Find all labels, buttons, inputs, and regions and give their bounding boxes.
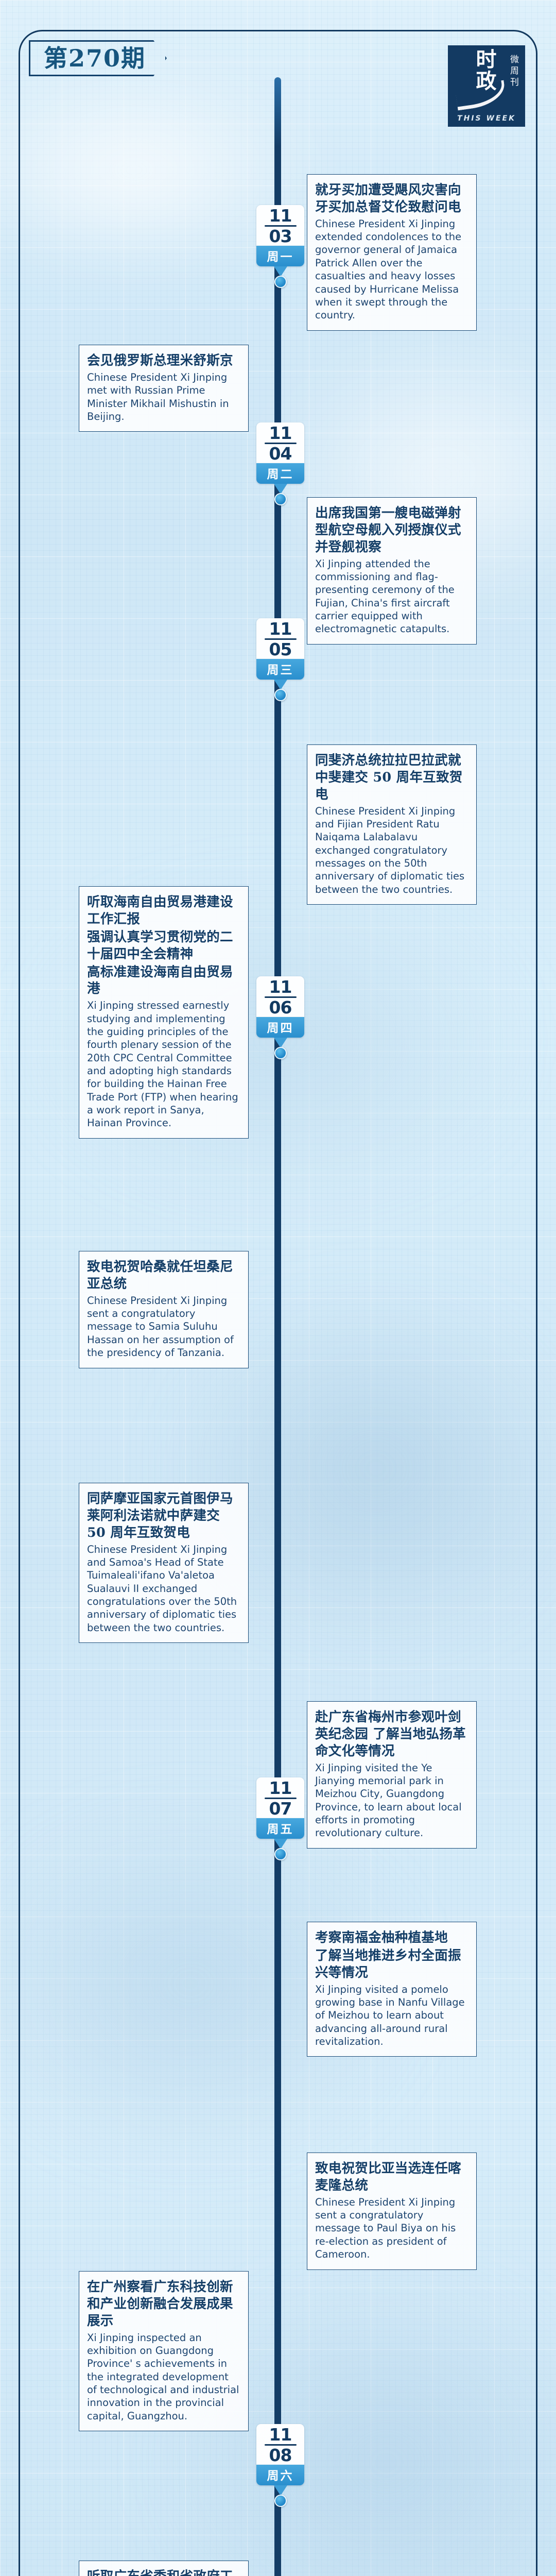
date-month: 11: [256, 2427, 304, 2443]
timeline-event-card[interactable]: 就牙买加遭受飓风灾害向牙买加总督艾伦致慰问电Chinese President …: [307, 174, 477, 331]
event-description-en: Xi Jinping attended the commissioning an…: [315, 557, 468, 636]
brand-char-1: 时: [476, 49, 497, 70]
marker-arrow-icon: [274, 1038, 287, 1048]
timeline-event-card[interactable]: 考察南福金柚种植基地了解当地推进乡村全面振兴等情况Xi Jinping visi…: [307, 1922, 477, 2057]
date-day: 05: [256, 641, 304, 658]
event-title-cn: 考察南福金柚种植基地: [315, 1929, 468, 1946]
marker-arrow-icon: [274, 1839, 287, 1849]
timeline-event-card[interactable]: 在广州察看广东科技创新和产业创新融合发展成果展示Xi Jinping inspe…: [79, 2271, 249, 2431]
timeline-node-dot: [274, 276, 287, 288]
event-description-en: Chinese President Xi Jinping sent a cong…: [315, 2196, 468, 2261]
event-title-cn: 出席我国第一艘电磁弹射型航空母舰入列授旗仪式并登舰视察: [315, 505, 468, 556]
date-month: 11: [256, 1781, 304, 1796]
date-month: 11: [256, 979, 304, 995]
timeline-event-card[interactable]: 听取广东省委和省政府工作汇报Xi Jinping listened to wor…: [79, 2561, 249, 2576]
date-weekday: 周一: [256, 246, 304, 266]
date-day: 04: [256, 445, 304, 462]
marker-arrow-icon: [274, 680, 287, 690]
date-day: 03: [256, 228, 304, 245]
event-title-cn: 会见俄罗斯总理米舒斯京: [87, 352, 240, 369]
date-month: 11: [256, 208, 304, 224]
timeline-event-card[interactable]: 会见俄罗斯总理米舒斯京Chinese President Xi Jinping …: [79, 345, 249, 432]
date-day: 08: [256, 2447, 304, 2464]
date-day: 06: [256, 999, 304, 1016]
timeline-node-dot: [274, 1848, 287, 1860]
event-description-en: Chinese President Xi Jinping met with Ru…: [87, 371, 240, 423]
date-month: 11: [256, 621, 304, 637]
timeline-event-card[interactable]: 致电祝贺哈桑就任坦桑尼亚总统Chinese President Xi Jinpi…: [79, 1251, 249, 1368]
event-title-cn: 高标准建设海南自由贸易港: [87, 964, 240, 998]
timeline-event-card[interactable]: 赴广东省梅州市参观叶剑英纪念园 了解当地弘扬革命文化等情况Xi Jinping …: [307, 1701, 477, 1849]
marker-arrow-icon: [274, 266, 287, 277]
date-weekday: 周三: [256, 659, 304, 680]
event-title-cn: 就牙买加遭受飓风灾害向牙买加总督艾伦致慰问电: [315, 182, 468, 216]
event-description-en: Chinese President Xi Jinping extended co…: [315, 217, 468, 322]
date-weekday: 周六: [256, 2465, 304, 2485]
event-description-en: Xi Jinping visited the Ye Jianying memor…: [315, 1761, 468, 1840]
timeline-node-dot: [274, 2495, 287, 2507]
brush-stroke-icon: [455, 80, 507, 111]
timeline-date-marker: 1107周五: [256, 1777, 304, 1860]
date-weekday: 周五: [256, 1818, 304, 1839]
date-weekday: 周二: [256, 463, 304, 484]
timeline-node-dot: [274, 1047, 287, 1059]
event-description-en: Chinese President Xi Jinping and Samoa's…: [87, 1543, 240, 1634]
event-description-en: Xi Jinping stressed earnestly studying a…: [87, 999, 240, 1129]
event-title-cn: 了解当地推进乡村全面振兴等情况: [315, 1947, 468, 1981]
event-title-cn: 听取海南自由贸易港建设工作汇报: [87, 894, 240, 928]
event-description-en: Chinese President Xi Jinping and Fijian …: [315, 805, 468, 896]
event-title-cn: 同萨摩亚国家元首图伊马莱阿利法诺就中萨建交 50 周年互致贺电: [87, 1490, 240, 1541]
event-title-cn: 致电祝贺比亚当选连任喀麦隆总统: [315, 2160, 468, 2194]
timeline-date-marker: 1105周三: [256, 618, 304, 701]
timeline-event-card[interactable]: 听取海南自由贸易港建设工作汇报强调认真学习贯彻党的二十届四中全会精神高标准建设海…: [79, 886, 249, 1139]
event-title-cn: 致电祝贺哈桑就任坦桑尼亚总统: [87, 1259, 240, 1293]
event-title-cn: 听取广东省委和省政府工作汇报: [87, 2568, 240, 2576]
date-weekday: 周四: [256, 1017, 304, 1038]
timeline-date-marker: 1104周二: [256, 422, 304, 505]
date-card: 1106: [256, 976, 304, 1017]
event-title-cn: 强调认真学习贯彻党的二十届四中全会精神: [87, 929, 240, 963]
event-description-en: Xi Jinping inspected an exhibition on Gu…: [87, 2331, 240, 2422]
timeline-date-marker: 1108周六: [256, 2424, 304, 2507]
event-description-en: Chinese President Xi Jinping sent a cong…: [87, 1294, 240, 1360]
date-card: 1103: [256, 205, 304, 246]
brand-subtitle-cn: 微周刊: [507, 55, 520, 89]
event-title-cn: 在广州察看广东科技创新和产业创新融合发展成果展示: [87, 2279, 240, 2330]
timeline-event-card[interactable]: 出席我国第一艘电磁弹射型航空母舰入列授旗仪式并登舰视察Xi Jinping at…: [307, 497, 477, 645]
poster-canvas: 第270期 时 政 微周刊 THIS WEEK 1103周一1104周二1105…: [0, 0, 556, 2576]
timeline-date-marker: 1106周四: [256, 976, 304, 1059]
brand-logo: 时 政 微周刊 THIS WEEK: [448, 45, 525, 127]
timeline-node-dot: [274, 493, 287, 505]
brand-name-en: THIS WEEK: [448, 114, 525, 123]
timeline-node-dot: [274, 689, 287, 701]
issue-number-badge: 第270期: [29, 40, 167, 76]
event-description-en: Xi Jinping visited a pomelo growing base…: [315, 1983, 468, 2048]
timeline-date-marker: 1103周一: [256, 205, 304, 288]
date-day: 07: [256, 1800, 304, 1817]
timeline-event-card[interactable]: 同萨摩亚国家元首图伊马莱阿利法诺就中萨建交 50 周年互致贺电Chinese P…: [79, 1483, 249, 1643]
marker-arrow-icon: [274, 2485, 287, 2496]
marker-arrow-icon: [274, 484, 287, 494]
timeline-event-card[interactable]: 致电祝贺比亚当选连任喀麦隆总统Chinese President Xi Jinp…: [307, 2153, 477, 2270]
issue-number-label: 第270期: [44, 46, 146, 70]
date-card: 1104: [256, 422, 304, 463]
date-card: 1108: [256, 2424, 304, 2465]
date-month: 11: [256, 426, 304, 441]
event-title-cn: 同斐济总统拉拉巴拉武就中斐建交 50 周年互致贺电: [315, 752, 468, 803]
event-title-cn: 赴广东省梅州市参观叶剑英纪念园 了解当地弘扬革命文化等情况: [315, 1709, 468, 1760]
date-card: 1107: [256, 1777, 304, 1818]
date-card: 1105: [256, 618, 304, 659]
timeline-event-card[interactable]: 同斐济总统拉拉巴拉武就中斐建交 50 周年互致贺电Chinese Preside…: [307, 744, 477, 905]
